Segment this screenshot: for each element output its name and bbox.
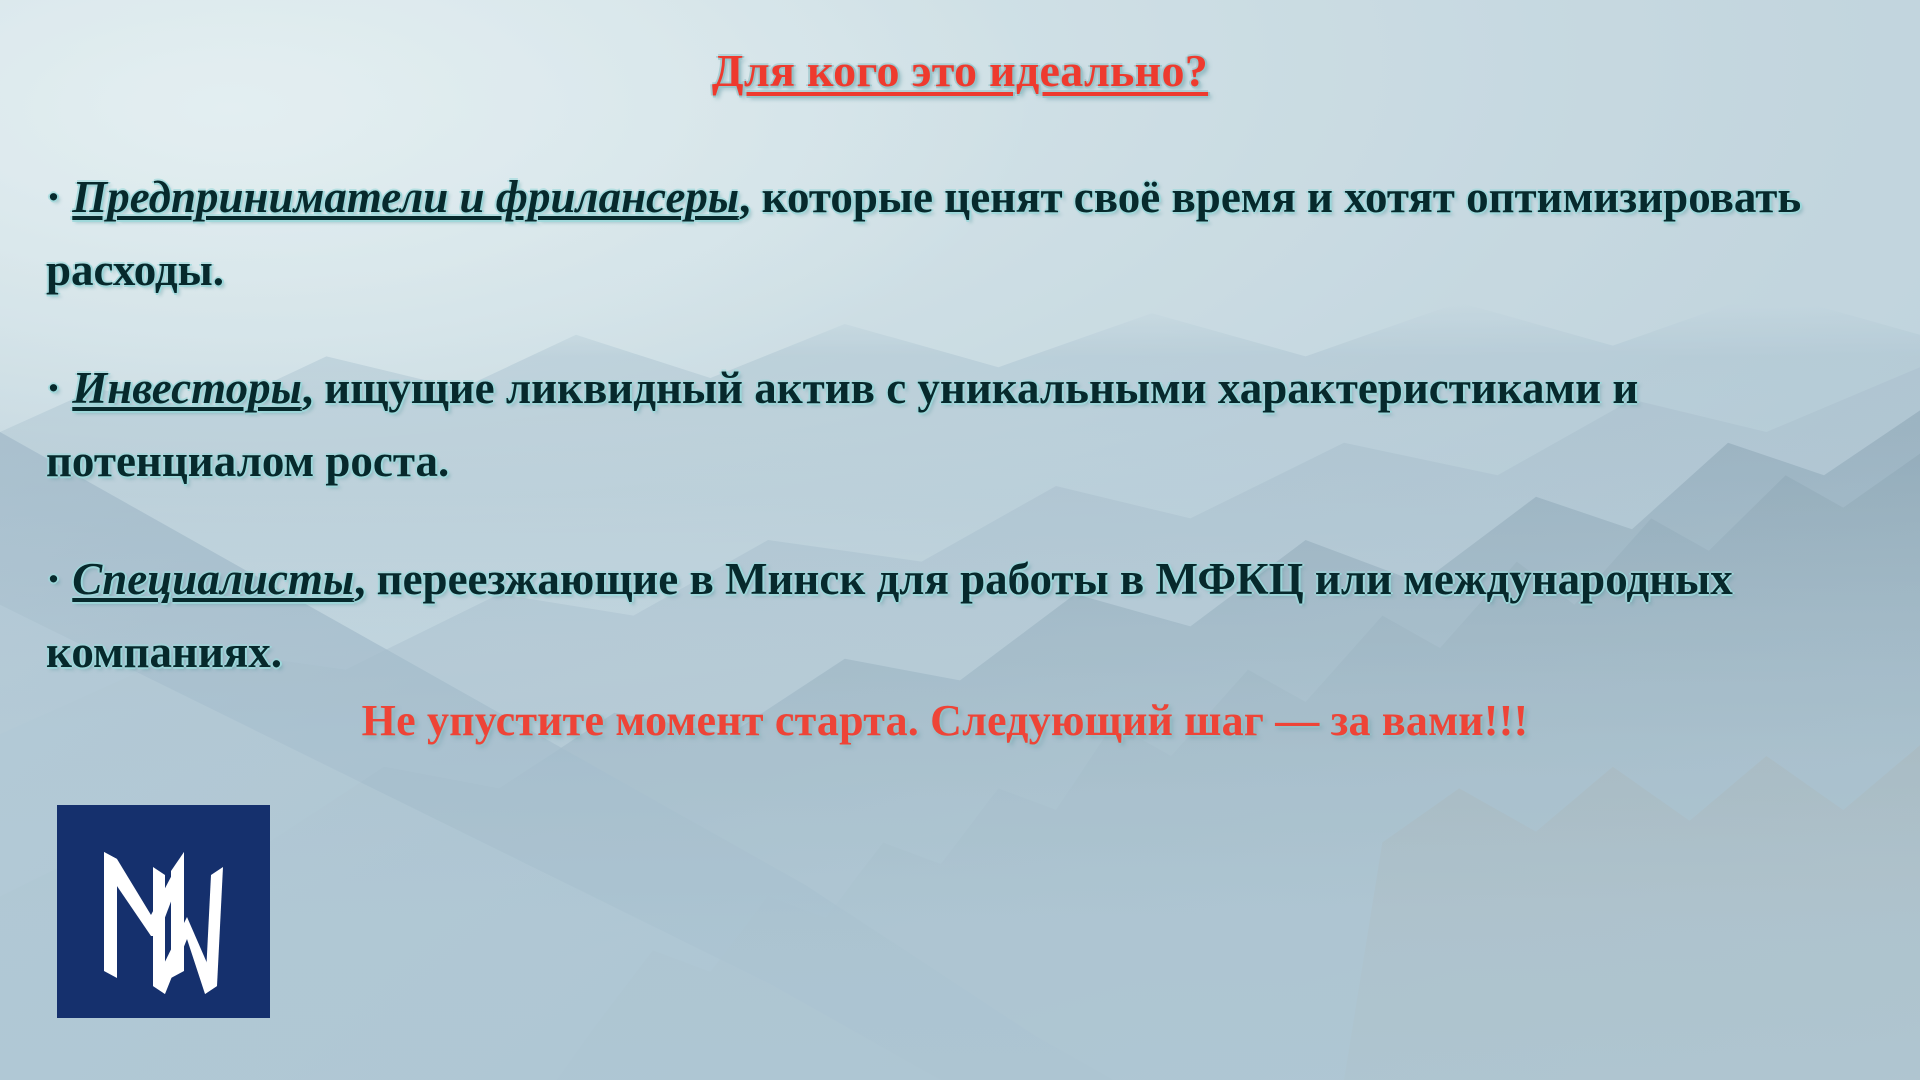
bullet-item-entrepreneurs: · Предприниматели и фрилансеры, которые … (46, 161, 1894, 307)
brand-logo (57, 805, 270, 1018)
mw-monogram-icon (57, 805, 270, 1018)
bullet-marker: · (46, 363, 72, 413)
bullet-item-investors: · Инвесторы, ищущие ликвидный актив с ун… (46, 352, 1894, 498)
bullet-lead-term: Специалисты (72, 554, 354, 604)
slide-title: Для кого это идеально? (0, 44, 1920, 97)
bullet-lead-term: Инвесторы (72, 363, 302, 413)
bullet-marker: · (46, 554, 72, 604)
slide-canvas: Для кого это идеально? · Предприниматели… (0, 0, 1920, 1080)
bullet-item-specialists: · Специалисты, переезжающие в Минск для … (46, 543, 1894, 689)
slide-content: Для кого это идеально? · Предприниматели… (0, 0, 1920, 1080)
bullet-marker: · (46, 172, 72, 222)
bullet-list: · Предприниматели и фрилансеры, которые … (46, 116, 1894, 734)
bullet-lead-term: Предприниматели и фрилансеры (72, 172, 739, 222)
call-to-action-text: Не упустите момент старта. Следующий шаг… (0, 695, 1890, 746)
